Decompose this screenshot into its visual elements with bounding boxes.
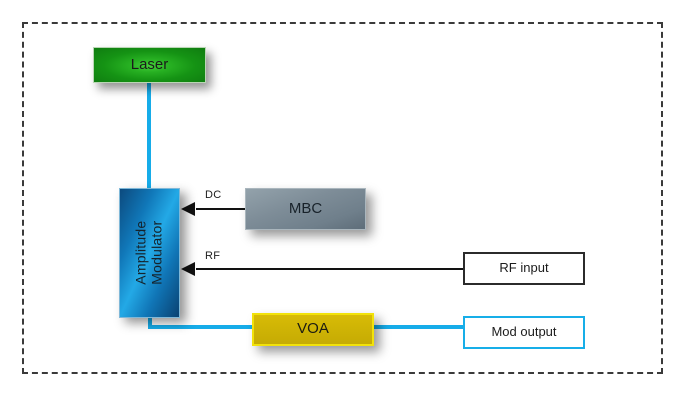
block-mod-output[interactable]: Mod output	[463, 316, 585, 349]
optical-link-modulator-to-voa	[148, 325, 254, 329]
optical-link-laser-to-modulator	[147, 82, 151, 190]
block-mod-output-label: Mod output	[491, 325, 556, 340]
block-laser-label: Laser	[131, 57, 169, 74]
block-rf-input[interactable]: RF input	[463, 252, 585, 285]
electrical-link-mbc-to-modulator	[196, 208, 247, 210]
arrowhead-rf-icon	[181, 262, 195, 276]
electrical-link-rf-input-to-modulator	[196, 268, 465, 270]
signal-label-rf: RF	[205, 250, 220, 262]
block-mbc-label: MBC	[289, 201, 322, 218]
block-amplitude-modulator-label: Amplitude Modulator	[134, 221, 165, 285]
signal-label-dc: DC	[205, 189, 222, 201]
block-voa-label: VOA	[297, 321, 329, 338]
diagram-canvas: DC RF Laser Amplitude Modulator MBC VOA …	[0, 0, 695, 401]
block-mbc[interactable]: MBC	[245, 188, 366, 230]
block-laser[interactable]: Laser	[93, 47, 206, 83]
block-amplitude-modulator[interactable]: Amplitude Modulator	[119, 188, 180, 318]
block-voa[interactable]: VOA	[252, 313, 374, 346]
block-rf-input-label: RF input	[499, 261, 548, 276]
arrowhead-dc-icon	[181, 202, 195, 216]
optical-link-voa-to-mod-output	[372, 325, 465, 329]
